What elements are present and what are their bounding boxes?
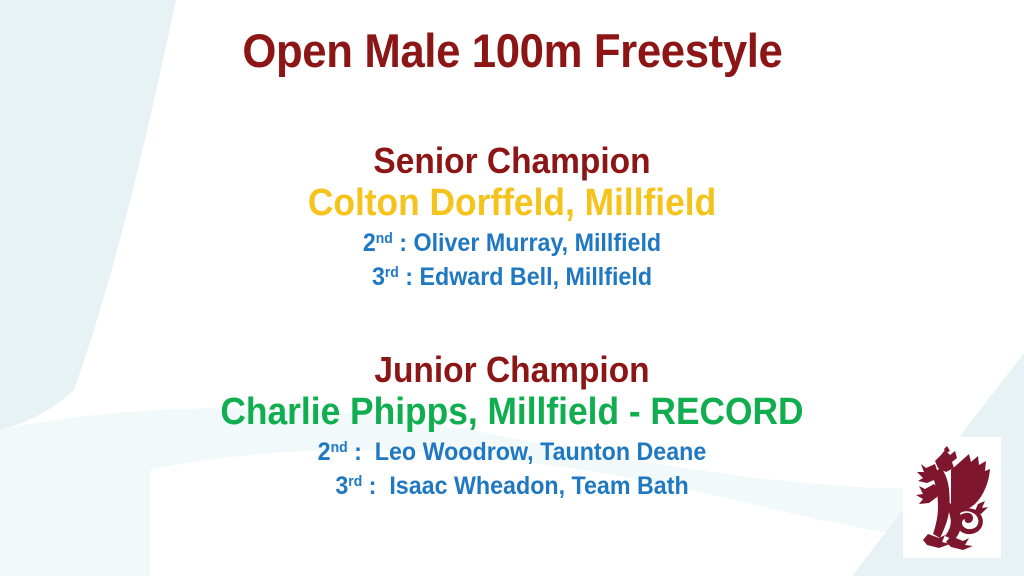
senior-second-rank-suffix: nd (376, 230, 393, 247)
senior-third-separator: : (399, 263, 420, 291)
senior-second-rank: 2 (363, 229, 376, 257)
dragon-icon (911, 446, 993, 550)
senior-second-separator: : (393, 229, 414, 257)
senior-placing-second: 2nd : Oliver Murray, Millfield (36, 226, 988, 260)
section-junior: Junior Champion Charlie Phipps, Millfiel… (0, 350, 1024, 503)
junior-third-separator: : (362, 472, 389, 500)
senior-placing-third: 3rd : Edward Bell, Millfield (36, 260, 988, 294)
senior-champion-heading: Senior Champion (36, 141, 988, 181)
senior-third-name: Edward Bell, Millfield (419, 263, 652, 291)
junior-second-rank: 2 (318, 438, 331, 466)
junior-second-name: Leo Woodrow, Taunton Deane (375, 438, 707, 466)
slide-canvas: Open Male 100m Freestyle Senior Champion… (0, 0, 1024, 576)
section-senior: Senior Champion Colton Dorffeld, Millfie… (0, 141, 1024, 294)
senior-third-rank: 3 (372, 263, 385, 291)
junior-third-rank: 3 (335, 472, 348, 500)
logo-container (903, 437, 1001, 558)
junior-second-separator: : (348, 438, 375, 466)
slide-content: Open Male 100m Freestyle Senior Champion… (0, 0, 1024, 576)
page-title: Open Male 100m Freestyle (242, 27, 782, 74)
senior-champion-name: Colton Dorffeld, Millfield (36, 181, 988, 226)
junior-placing-second: 2nd : Leo Woodrow, Taunton Deane (36, 435, 988, 469)
junior-champion-heading: Junior Champion (36, 350, 988, 390)
junior-third-name: Isaac Wheadon, Team Bath (389, 472, 688, 500)
junior-third-rank-suffix: rd (348, 473, 362, 490)
senior-second-name: Oliver Murray, Millfield (413, 229, 661, 257)
senior-third-rank-suffix: rd (385, 264, 399, 281)
junior-second-rank-suffix: nd (331, 439, 348, 456)
junior-champion-name: Charlie Phipps, Millfield - RECORD (36, 390, 988, 435)
junior-placing-third: 3rd : Isaac Wheadon, Team Bath (36, 469, 988, 503)
